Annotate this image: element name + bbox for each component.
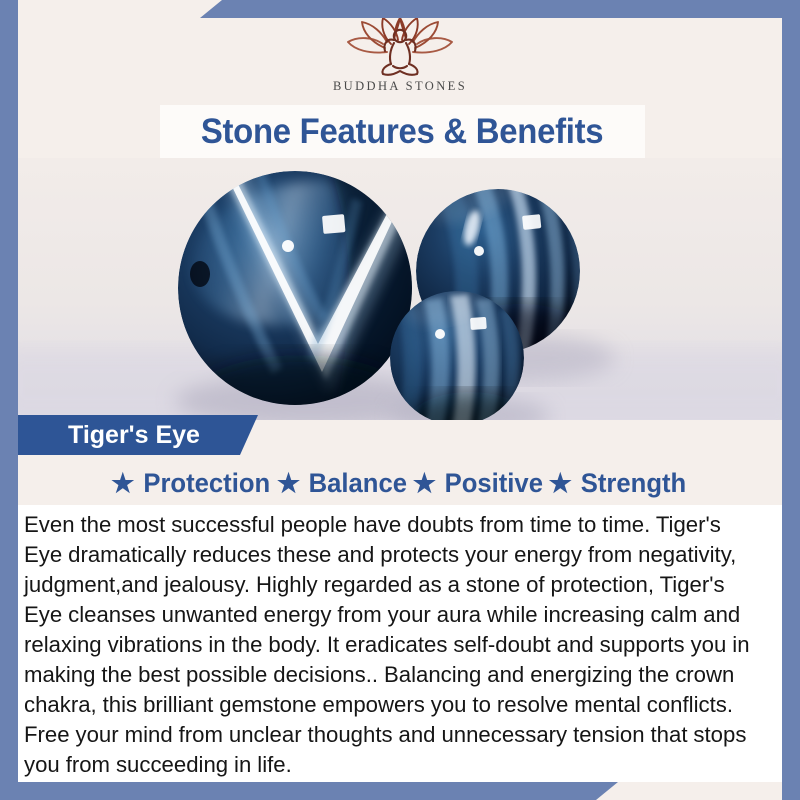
benefit-label: Balance	[309, 468, 407, 499]
benefit-item: ★ Positive	[413, 468, 546, 499]
stone-photo	[0, 158, 800, 420]
page-title: Stone Features & Benefits	[201, 112, 603, 152]
description-text: Even the most successful people have dou…	[24, 510, 757, 780]
benefit-item: ★ Strength	[549, 468, 689, 499]
star-icon: ★	[277, 470, 300, 496]
benefit-label: Strength	[581, 468, 686, 499]
benefit-item: ★ Protection	[111, 468, 274, 499]
star-icon: ★	[549, 470, 572, 496]
frame-border-bottom	[0, 782, 618, 800]
stone-name-tag: Tiger's Eye	[18, 415, 258, 455]
title-banner: Stone Features & Benefits	[160, 105, 645, 158]
frame-border-top	[200, 0, 800, 18]
stone-photo-graphic	[0, 158, 800, 420]
frame-border-left	[0, 0, 18, 800]
benefit-item: ★ Balance	[277, 468, 410, 499]
benefit-label: Positive	[445, 468, 543, 499]
benefits-list: ★ Protection ★ Balance ★ Positive ★ Stre…	[0, 462, 800, 504]
poster-canvas: BUDDHA STONES Stone Features & Benefits …	[0, 0, 800, 800]
stone-name: Tiger's Eye	[68, 421, 200, 450]
description-block: Even the most successful people have dou…	[18, 505, 782, 782]
frame-border-right	[782, 0, 800, 800]
star-icon: ★	[111, 470, 134, 496]
benefit-label: Protection	[144, 468, 271, 499]
star-icon: ★	[413, 470, 436, 496]
brand-name: BUDDHA STONES	[333, 79, 467, 94]
lotus-meditation-icon	[325, 14, 475, 78]
brand-logo: BUDDHA STONES	[0, 14, 800, 106]
